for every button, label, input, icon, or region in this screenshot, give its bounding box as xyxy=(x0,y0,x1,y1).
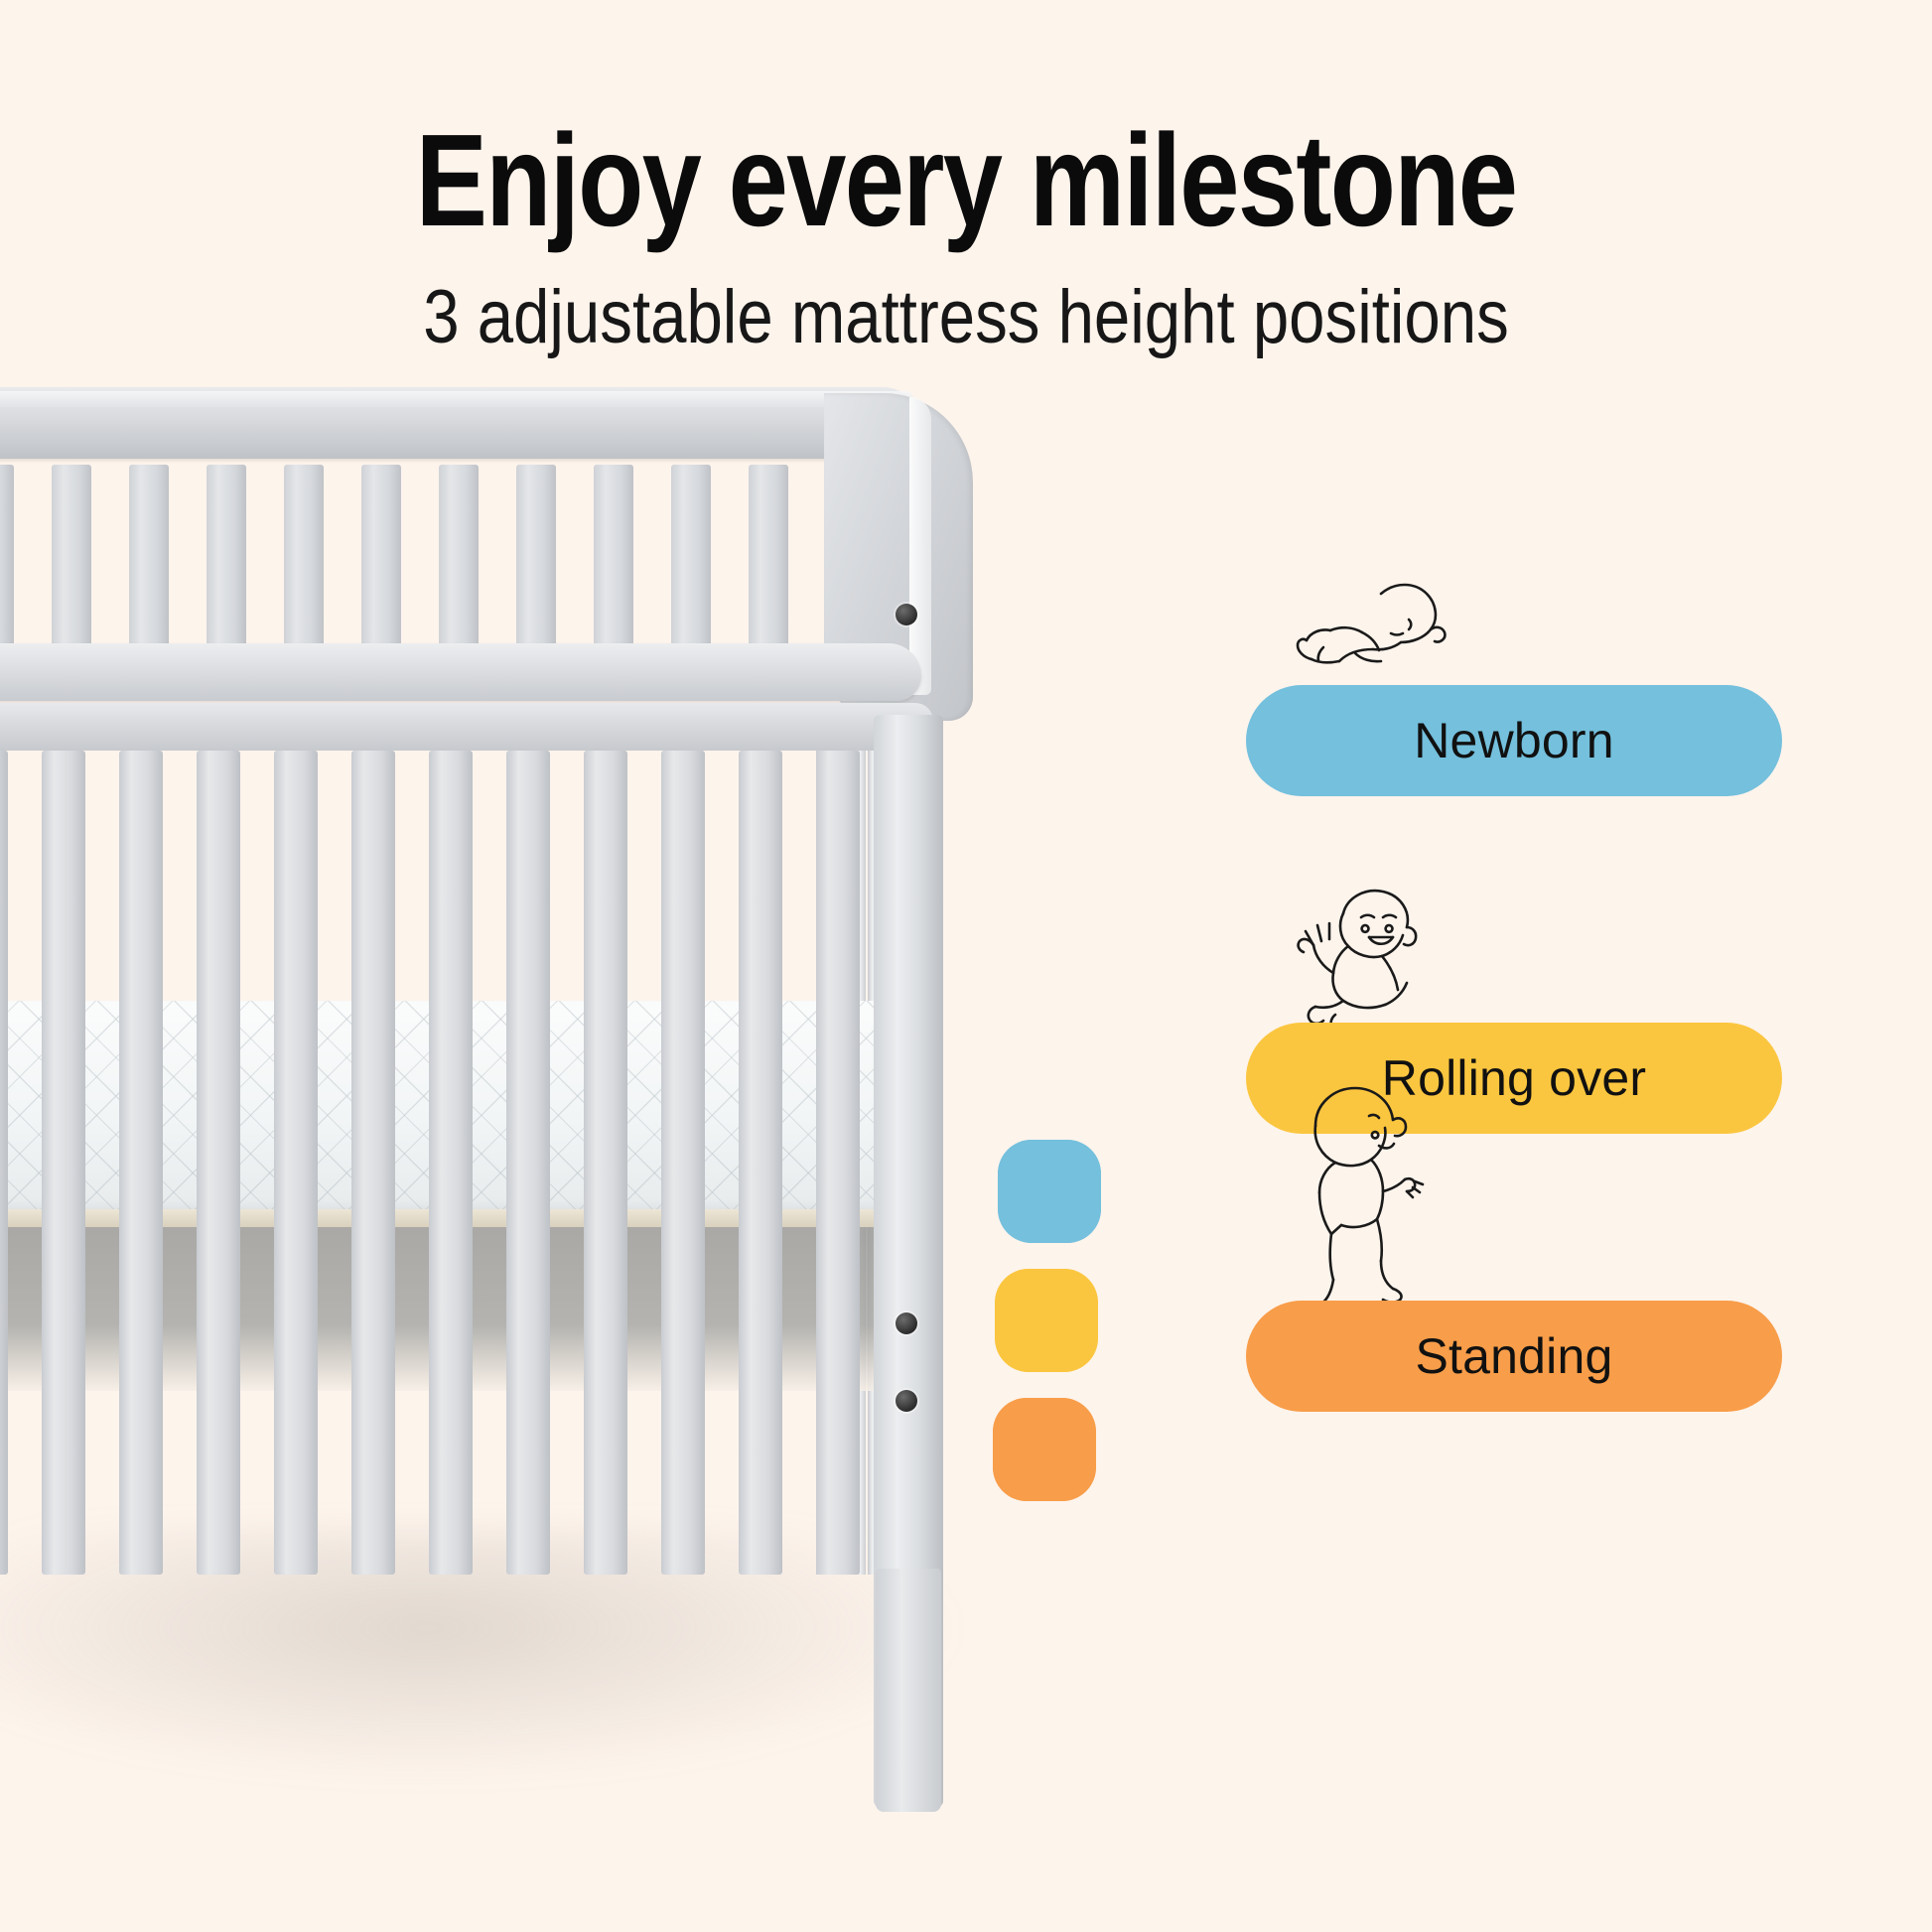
screw-icon xyxy=(896,1390,917,1412)
crib-slat xyxy=(0,751,8,1575)
crib-slat xyxy=(739,751,782,1575)
crib-slat xyxy=(506,751,550,1575)
baby-sitting-waving-icon xyxy=(1266,874,1474,1042)
badge-label: Newborn xyxy=(1414,712,1614,769)
screw-icon xyxy=(896,1312,917,1334)
crib-lower-rail xyxy=(0,703,933,751)
crib-main-slats xyxy=(0,751,884,1575)
baby-standing-walking-icon xyxy=(1264,1074,1462,1322)
crib-slat xyxy=(516,465,556,648)
crib-slat xyxy=(42,751,85,1575)
crib-slat xyxy=(594,465,633,648)
crib-slat xyxy=(129,465,169,648)
marker-newborn xyxy=(998,1140,1101,1243)
crib-slat xyxy=(816,751,860,1575)
screw-icon xyxy=(896,604,917,625)
crib-upper-slats xyxy=(0,465,874,648)
crib-sleigh-edge xyxy=(909,397,931,695)
page-subtitle: 3 adjustable mattress height positions xyxy=(135,280,1797,355)
crib-middle-rail xyxy=(0,643,921,701)
header: Enjoy every milestone 3 adjustable mattr… xyxy=(0,0,1932,355)
page-title: Enjoy every milestone xyxy=(174,115,1758,246)
crib-slat xyxy=(429,751,473,1575)
crib-slat xyxy=(749,465,788,648)
infographic-canvas: Enjoy every milestone 3 adjustable mattr… xyxy=(0,0,1932,1932)
badge-newborn[interactable]: Newborn xyxy=(1246,685,1782,796)
marker-standing xyxy=(993,1398,1096,1501)
milestone-list: Newborn xyxy=(1246,685,1881,1678)
marker-rolling-over xyxy=(995,1269,1098,1372)
crib-slat xyxy=(661,751,705,1575)
crib-slat xyxy=(197,751,240,1575)
crib-product-image xyxy=(0,387,993,1698)
crib-slat xyxy=(671,465,711,648)
crib-slat xyxy=(0,465,14,648)
crib-headboard-top-rail xyxy=(0,387,921,459)
crib-slat xyxy=(119,751,163,1575)
crib-leg xyxy=(876,1569,941,1812)
badge-label: Standing xyxy=(1416,1327,1613,1385)
crib-slat xyxy=(584,751,627,1575)
crib-slat xyxy=(351,751,395,1575)
crib-slat xyxy=(274,751,318,1575)
crib-slat xyxy=(439,465,479,648)
rail-highlight xyxy=(0,391,913,407)
crib-slat xyxy=(361,465,401,648)
crib-slat xyxy=(52,465,91,648)
badge-standing[interactable]: Standing xyxy=(1246,1301,1782,1412)
crib-slat xyxy=(207,465,246,648)
crib-slat xyxy=(284,465,324,648)
